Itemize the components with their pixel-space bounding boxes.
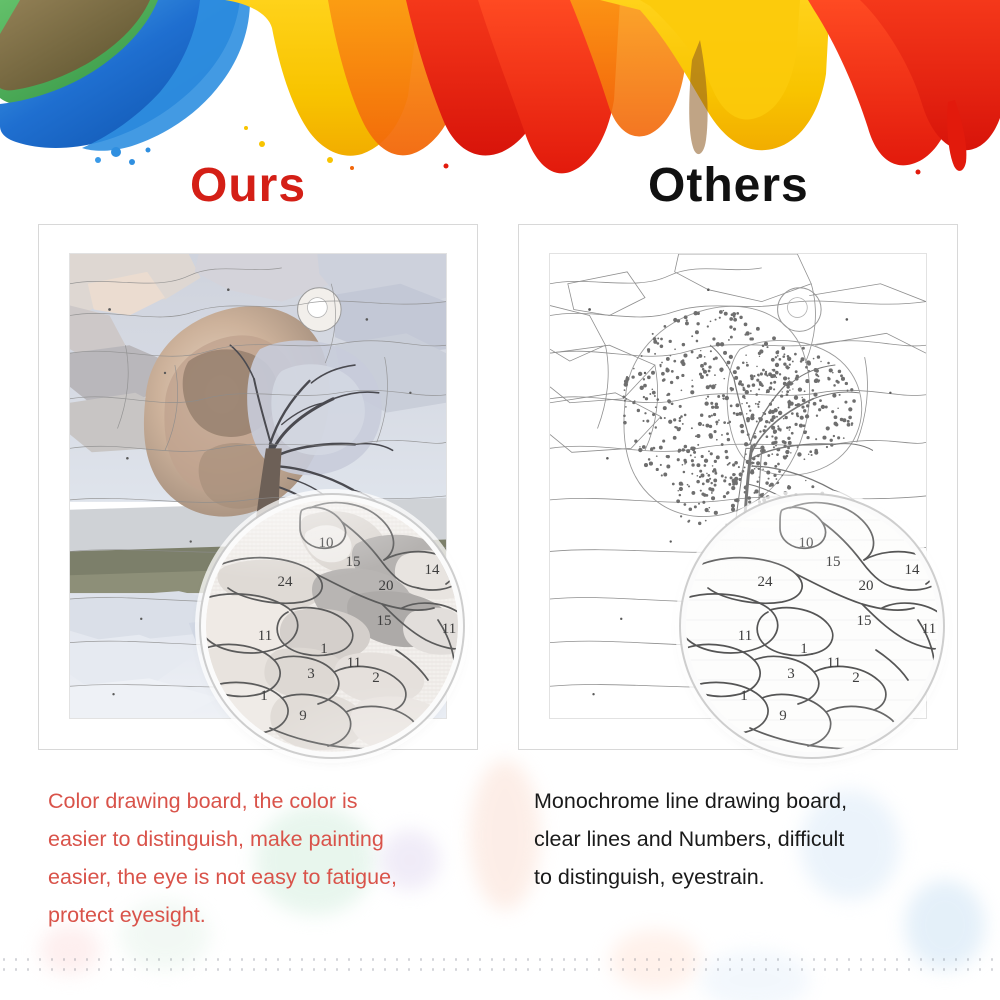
leaf-stipple-mark <box>730 387 733 390</box>
leaf-stipple-mark <box>704 401 708 405</box>
leaf-stipple-mark <box>783 441 786 444</box>
dotted-rule-bottom <box>0 968 1000 971</box>
loupe-number-others: 24 <box>758 574 774 590</box>
leaf-stipple-mark <box>744 442 748 446</box>
caption-ours-line-4: protect eyesight. <box>48 896 498 934</box>
leaf-stipple-mark <box>839 394 841 396</box>
leaf-stipple-mark <box>698 522 701 525</box>
leaf-stipple-mark <box>642 420 644 422</box>
leaf-stipple-mark <box>725 450 728 453</box>
leaf-stipple-mark <box>694 505 697 508</box>
leaf-stipple-mark <box>732 463 735 466</box>
leaf-stipple-mark <box>681 362 685 366</box>
leaf-stipple-mark <box>842 418 846 422</box>
leaf-stipple-mark <box>682 343 685 346</box>
leaf-stipple-mark <box>756 461 760 465</box>
dotted-rule-dash <box>313 958 315 961</box>
leaf-stipple-mark <box>762 468 764 470</box>
leaf-stipple-mark <box>733 318 737 322</box>
leaf-stipple-mark <box>709 478 711 480</box>
leaf-stipple-mark <box>782 355 785 358</box>
leaf-stipple-mark <box>673 418 676 421</box>
leaf-stipple-mark <box>660 365 662 367</box>
leaf-stipple-mark <box>826 446 828 448</box>
leaf-stipple-mark <box>776 478 778 480</box>
leaf-stipple-mark <box>786 390 789 393</box>
leaf-stipple-mark <box>708 511 709 512</box>
leaf-stipple-mark <box>835 423 838 426</box>
leaf-stipple-mark <box>660 417 662 419</box>
dotted-rule-dash <box>63 958 65 961</box>
leaf-stipple-mark <box>734 477 738 481</box>
dotted-rule-dash <box>920 958 922 961</box>
leaf-stipple-mark <box>822 436 826 440</box>
dotted-rule-dash <box>598 958 600 961</box>
leaf-stipple-mark <box>776 377 777 378</box>
leaf-stipple-mark <box>772 336 776 340</box>
leaf-stipple-mark <box>788 495 792 499</box>
dotted-rule-dash <box>491 958 493 961</box>
dotted-rule-dash <box>753 958 755 961</box>
leaf-stipple-mark <box>710 488 714 492</box>
leaf-stipple-mark <box>809 450 812 453</box>
magnifier-loupe-others: 10152420141511111113219 <box>686 500 938 752</box>
leaf-stipple-mark <box>764 462 768 466</box>
dotted-rule-dash <box>51 958 53 961</box>
leaf-stipple-mark <box>661 362 663 364</box>
leaf-stipple-mark <box>696 357 698 359</box>
leaf-stipple-mark <box>832 372 834 374</box>
leaf-stipple-mark <box>821 405 825 409</box>
leaf-stipple-mark <box>677 490 678 491</box>
leaf-stipple-mark <box>704 362 707 365</box>
leaf-stipple-mark <box>710 402 713 405</box>
leaf-stipple-mark <box>745 354 747 356</box>
leaf-stipple-mark <box>851 424 853 426</box>
leaf-stipple-mark <box>794 423 797 426</box>
leaf-stipple-mark <box>693 451 696 454</box>
leaf-stipple-mark <box>698 354 702 358</box>
leaf-stipple-mark <box>773 430 777 434</box>
dotted-rule-dash <box>110 958 112 961</box>
leaf-stipple-mark <box>757 406 759 408</box>
leaf-stipple-mark <box>657 342 660 345</box>
leaf-stipple-mark <box>649 462 653 466</box>
leaf-stipple-mark <box>773 474 776 477</box>
dotted-rule-dash <box>3 968 5 971</box>
dotted-rule-dash <box>967 958 969 961</box>
leaf-stipple-mark <box>789 364 791 366</box>
leaf-stipple-mark <box>771 435 773 437</box>
leaf-stipple-mark <box>781 475 783 477</box>
leaf-stipple-mark <box>665 368 669 372</box>
leaf-stipple-mark <box>662 379 665 382</box>
leaf-stipple-mark <box>660 345 664 349</box>
loupe-number-ours: 2 <box>372 670 380 686</box>
leaf-stipple-mark <box>624 379 628 383</box>
leaf-stipple-mark <box>757 403 759 405</box>
leaf-stipple-mark <box>731 504 735 508</box>
dotted-rule-dash <box>27 958 29 961</box>
leaf-stipple-mark <box>812 486 814 488</box>
leaf-stipple-mark <box>744 323 748 327</box>
leaf-stipple-mark <box>765 481 768 484</box>
leaf-stipple-mark <box>691 427 693 429</box>
leaf-stipple-mark <box>715 319 717 321</box>
leaf-stipple-mark <box>623 421 627 425</box>
loupe-number-ours: 1 <box>320 641 328 657</box>
leaf-stipple-mark <box>700 414 703 417</box>
leaf-stipple-mark <box>711 385 715 389</box>
dotted-rule-dash <box>682 958 684 961</box>
leaf-stipple-mark <box>664 417 666 419</box>
leaf-stipple-mark <box>656 398 659 401</box>
dotted-rule-dash <box>539 958 541 961</box>
leaf-stipple-mark <box>695 330 699 334</box>
leaf-stipple-mark <box>778 358 781 361</box>
dotted-rule-dash <box>277 958 279 961</box>
dotted-rule-dash <box>955 968 957 971</box>
leaf-stipple-mark <box>710 482 712 484</box>
leaf-stipple-mark <box>767 454 770 457</box>
loupe-number-ours: 15 <box>346 554 361 570</box>
leaf-stipple-mark <box>788 426 791 429</box>
leaf-stipple-mark <box>705 424 709 428</box>
leaf-stipple-mark <box>766 495 770 499</box>
leaf-stipple-mark <box>725 476 727 478</box>
leaf-stipple-mark <box>755 403 757 405</box>
leaf-stipple-mark <box>848 407 852 411</box>
dotted-rule-dash <box>443 968 445 971</box>
leaf-stipple-mark <box>715 384 717 386</box>
leaf-stipple-mark <box>702 483 705 486</box>
leaf-stipple-mark <box>640 386 644 390</box>
dotted-rule-dash <box>182 968 184 971</box>
leaf-stipple-mark <box>708 415 711 418</box>
leaf-stipple-mark <box>764 425 767 428</box>
leaf-stipple-mark <box>834 415 838 419</box>
dotted-rule-dash <box>908 958 910 961</box>
leaf-stipple-mark <box>806 360 810 364</box>
dotted-rule-dash <box>372 958 374 961</box>
dotted-rule-dash <box>551 958 553 961</box>
dotted-rule-dash <box>932 968 934 971</box>
leaf-stipple-mark <box>668 420 672 424</box>
dotted-rule-dash <box>646 958 648 961</box>
loupe-number-others: 15 <box>826 554 841 570</box>
loupe-number-ours: 11 <box>347 655 361 671</box>
dotted-rule-dash <box>217 968 219 971</box>
leaf-stipple-mark <box>751 469 754 472</box>
page-title-others: Others <box>648 162 809 210</box>
leaf-stipple-mark <box>685 321 689 325</box>
leaf-stipple-mark <box>778 411 782 415</box>
leaf-stipple-mark <box>687 484 689 486</box>
leaf-stipple-mark <box>785 450 789 454</box>
dotted-rule-dash <box>634 958 636 961</box>
leaf-stipple-mark <box>741 403 742 404</box>
leaf-stipple-mark <box>707 474 710 477</box>
dotted-rule-dash <box>598 968 600 971</box>
leaf-stipple-mark <box>779 429 781 431</box>
comparison-infographic: Ours Others <box>0 0 1000 1000</box>
dotted-rule-dash <box>193 968 195 971</box>
leaf-stipple-mark <box>803 424 806 427</box>
dotted-rule-dash <box>432 958 434 961</box>
leaf-stipple-mark <box>680 515 682 517</box>
leaf-stipple-mark <box>644 463 648 467</box>
magnifier-loupe-ours: 10152420141511111113219 <box>206 500 458 752</box>
leaf-stipple-mark <box>714 484 717 487</box>
leaf-stipple-mark <box>760 372 763 375</box>
leaf-stipple-mark <box>782 391 783 392</box>
loupe-number-ours: 15 <box>377 613 392 629</box>
leaf-stipple-mark <box>754 489 758 493</box>
leaf-stipple-mark <box>740 424 744 428</box>
leaf-stipple-mark <box>787 437 790 440</box>
leaf-stipple-mark <box>674 348 676 350</box>
leaf-stipple-mark <box>756 481 758 483</box>
leaf-stipple-mark <box>771 358 775 362</box>
leaf-stipple-mark <box>759 381 762 384</box>
dotted-rule-dash <box>229 968 231 971</box>
leaf-stipple-mark <box>666 357 670 361</box>
loupe-number-others: 11 <box>827 655 841 671</box>
dotted-rule-dash <box>384 968 386 971</box>
leaf-stipple-mark <box>783 418 785 420</box>
leaf-stipple-mark <box>745 390 749 394</box>
leaf-stipple-mark <box>626 398 628 400</box>
dotted-rule-dash <box>86 968 88 971</box>
leaf-stipple-mark <box>727 438 730 441</box>
leaf-stipple-mark <box>832 393 836 397</box>
leaf-stipple-mark <box>715 403 718 406</box>
leaf-stipple-mark <box>752 462 754 464</box>
loupe-number-others: 3 <box>787 666 795 682</box>
caption-others: Monochrome line drawing board, clear lin… <box>534 782 959 896</box>
leaf-stipple-mark <box>694 456 696 458</box>
leaf-stipple-mark <box>684 414 687 417</box>
leaf-stipple-mark <box>785 365 788 368</box>
leaf-stipple-mark <box>774 436 777 439</box>
leaf-stipple-mark <box>708 433 712 437</box>
leaf-stipple-mark <box>707 325 709 327</box>
leaf-stipple-mark <box>748 405 750 407</box>
leaf-stipple-mark <box>682 423 684 425</box>
leaf-stipple-mark <box>736 312 739 315</box>
leaf-stipple-mark <box>661 474 663 476</box>
leaf-stipple-mark <box>683 471 686 474</box>
caption-others-line-3: to distinguish, eyestrain. <box>534 858 959 896</box>
dotted-rule-dash <box>979 958 981 961</box>
leaf-stipple-mark <box>716 424 718 426</box>
leaf-stipple-mark <box>733 328 736 331</box>
leaf-stipple-mark <box>652 413 655 416</box>
leaf-stipple-mark <box>678 450 681 453</box>
leaf-stipple-mark <box>699 470 702 473</box>
leaf-stipple-mark <box>708 370 711 373</box>
loupe-number-ours: 9 <box>299 708 307 724</box>
leaf-stipple-mark <box>712 337 715 340</box>
leaf-stipple-mark <box>759 356 760 357</box>
leaf-stipple-mark <box>670 381 673 384</box>
dotted-rule-dash <box>860 958 862 961</box>
dotted-rule-dash <box>336 968 338 971</box>
leaf-stipple-mark <box>730 476 733 479</box>
leaf-stipple-mark <box>654 395 656 397</box>
dotted-rule-dash <box>515 968 517 971</box>
leaf-stipple-mark <box>724 312 728 316</box>
leaf-stipple-mark <box>826 426 830 430</box>
dotted-rule-dash <box>384 958 386 961</box>
leaf-stipple-mark <box>789 429 791 431</box>
leaf-stipple-mark <box>728 339 730 341</box>
leaf-stipple-mark <box>776 416 778 418</box>
leaf-stipple-mark <box>686 449 690 453</box>
dotted-rule-dash <box>146 958 148 961</box>
dotted-rule-dash <box>586 968 588 971</box>
dotted-rule-dash <box>39 968 41 971</box>
dotted-rule-dash <box>955 958 957 961</box>
leaf-stipple-mark <box>727 361 731 365</box>
leaf-stipple-mark <box>787 400 791 404</box>
leaf-stipple-mark <box>691 473 693 475</box>
leaf-stipple-mark <box>653 337 657 341</box>
leaf-stipple-mark <box>803 430 807 434</box>
leaf-stipple-mark <box>814 449 818 453</box>
dotted-rule-dash <box>289 958 291 961</box>
leaf-stipple-mark <box>783 362 786 365</box>
leaf-stipple-mark <box>691 385 693 387</box>
dotted-rule-dash <box>241 958 243 961</box>
leaf-stipple-mark <box>705 520 707 522</box>
leaf-stipple-mark <box>803 458 805 460</box>
dotted-rule-dash <box>932 958 934 961</box>
leaf-stipple-mark <box>786 426 789 429</box>
dotted-rule-dash <box>396 968 398 971</box>
leaf-stipple-mark <box>850 388 853 391</box>
leaf-stipple-mark <box>772 369 774 371</box>
leaf-stipple-mark <box>837 436 840 439</box>
leaf-stipple-mark <box>638 448 642 452</box>
leaf-stipple-mark <box>697 313 699 315</box>
leaf-stipple-mark <box>731 507 735 511</box>
leaf-stipple-mark <box>696 480 700 484</box>
leaf-stipple-mark <box>706 374 709 377</box>
leaf-stipple-mark <box>781 346 785 350</box>
leaf-stipple-mark <box>681 483 684 486</box>
leaf-stipple-mark <box>844 401 847 404</box>
dotted-rule-dash <box>253 958 255 961</box>
dotted-rule-dash <box>527 968 529 971</box>
leaf-stipple-mark <box>631 375 634 378</box>
leaf-stipple-mark <box>773 381 776 384</box>
dotted-rule-dash <box>51 968 53 971</box>
leaf-stipple-mark <box>711 496 715 500</box>
loupe-number-others: 9 <box>779 708 787 724</box>
dotted-rule-dash <box>860 968 862 971</box>
leaf-stipple-mark <box>797 452 801 456</box>
leaf-stipple-mark <box>688 485 690 487</box>
dotted-rule-dash <box>634 968 636 971</box>
leaf-stipple-mark <box>772 415 776 419</box>
leaf-stipple-mark <box>663 473 667 477</box>
dotted-rule-dash <box>813 958 815 961</box>
leaf-stipple-mark <box>675 426 678 429</box>
leaf-stipple-mark <box>688 520 690 522</box>
leaf-stipple-mark <box>721 475 724 478</box>
leaf-stipple-mark <box>696 322 699 325</box>
dotted-rule-dash <box>765 958 767 961</box>
leaf-stipple-mark <box>819 399 822 402</box>
leaf-stipple-mark <box>681 389 683 391</box>
leaf-stipple-mark <box>730 336 733 339</box>
dotted-rule-dash <box>348 958 350 961</box>
leaf-stipple-mark <box>643 396 645 398</box>
leaf-stipple-mark <box>774 465 777 468</box>
dotted-rule-dash <box>563 958 565 961</box>
leaf-stipple-mark <box>768 478 770 480</box>
leaf-stipple-mark <box>711 406 714 409</box>
dotted-rule-dash <box>74 958 76 961</box>
dotted-rule-dash <box>253 968 255 971</box>
loupe-number-ours: 1 <box>260 688 268 704</box>
loupe-number-ours: 10 <box>319 535 334 551</box>
leaf-stipple-mark <box>777 355 779 357</box>
dotted-rule-dash <box>170 968 172 971</box>
leaf-stipple-mark <box>746 413 747 414</box>
leaf-stipple-mark <box>739 316 742 319</box>
leaf-stipple-mark <box>707 395 709 397</box>
leaf-stipple-mark <box>813 402 817 406</box>
leaf-stipple-mark <box>723 421 726 424</box>
leaf-stipple-mark <box>652 391 656 395</box>
leaf-stipple-mark <box>700 364 704 368</box>
leaf-stipple-mark <box>645 397 648 400</box>
dotted-rule-dash <box>848 968 850 971</box>
leaf-stipple-mark <box>684 315 688 319</box>
leaf-stipple-mark <box>843 437 845 439</box>
leaf-stipple-mark <box>652 389 654 391</box>
leaf-stipple-mark <box>626 376 628 378</box>
dotted-rule-dash <box>801 968 803 971</box>
leaf-stipple-mark <box>805 480 806 481</box>
dotted-rule-dash <box>503 968 505 971</box>
leaf-stipple-mark <box>691 335 693 337</box>
leaf-stipple-mark <box>684 503 687 506</box>
leaf-stipple-mark <box>783 353 785 355</box>
leaf-stipple-mark <box>769 386 773 390</box>
dotted-rule-dash <box>15 958 17 961</box>
leaf-stipple-mark <box>721 434 723 436</box>
leaf-stipple-mark <box>661 372 665 376</box>
dotted-rule-dash <box>122 968 124 971</box>
dotted-rule-dash <box>360 968 362 971</box>
leaf-stipple-mark <box>676 376 679 379</box>
dotted-rule-dash <box>408 968 410 971</box>
dotted-rule-dash <box>122 958 124 961</box>
leaf-stipple-mark <box>714 356 717 359</box>
leaf-stipple-mark <box>690 447 694 451</box>
leaf-stipple-mark <box>795 370 798 373</box>
leaf-stipple-mark <box>736 482 738 484</box>
leaf-stipple-mark <box>717 395 720 398</box>
leaf-stipple-mark <box>746 364 749 367</box>
leaf-stipple-mark <box>848 416 852 420</box>
leaf-stipple-mark <box>712 465 714 467</box>
dotted-rule-dash <box>813 968 815 971</box>
leaf-stipple-mark <box>705 508 709 512</box>
